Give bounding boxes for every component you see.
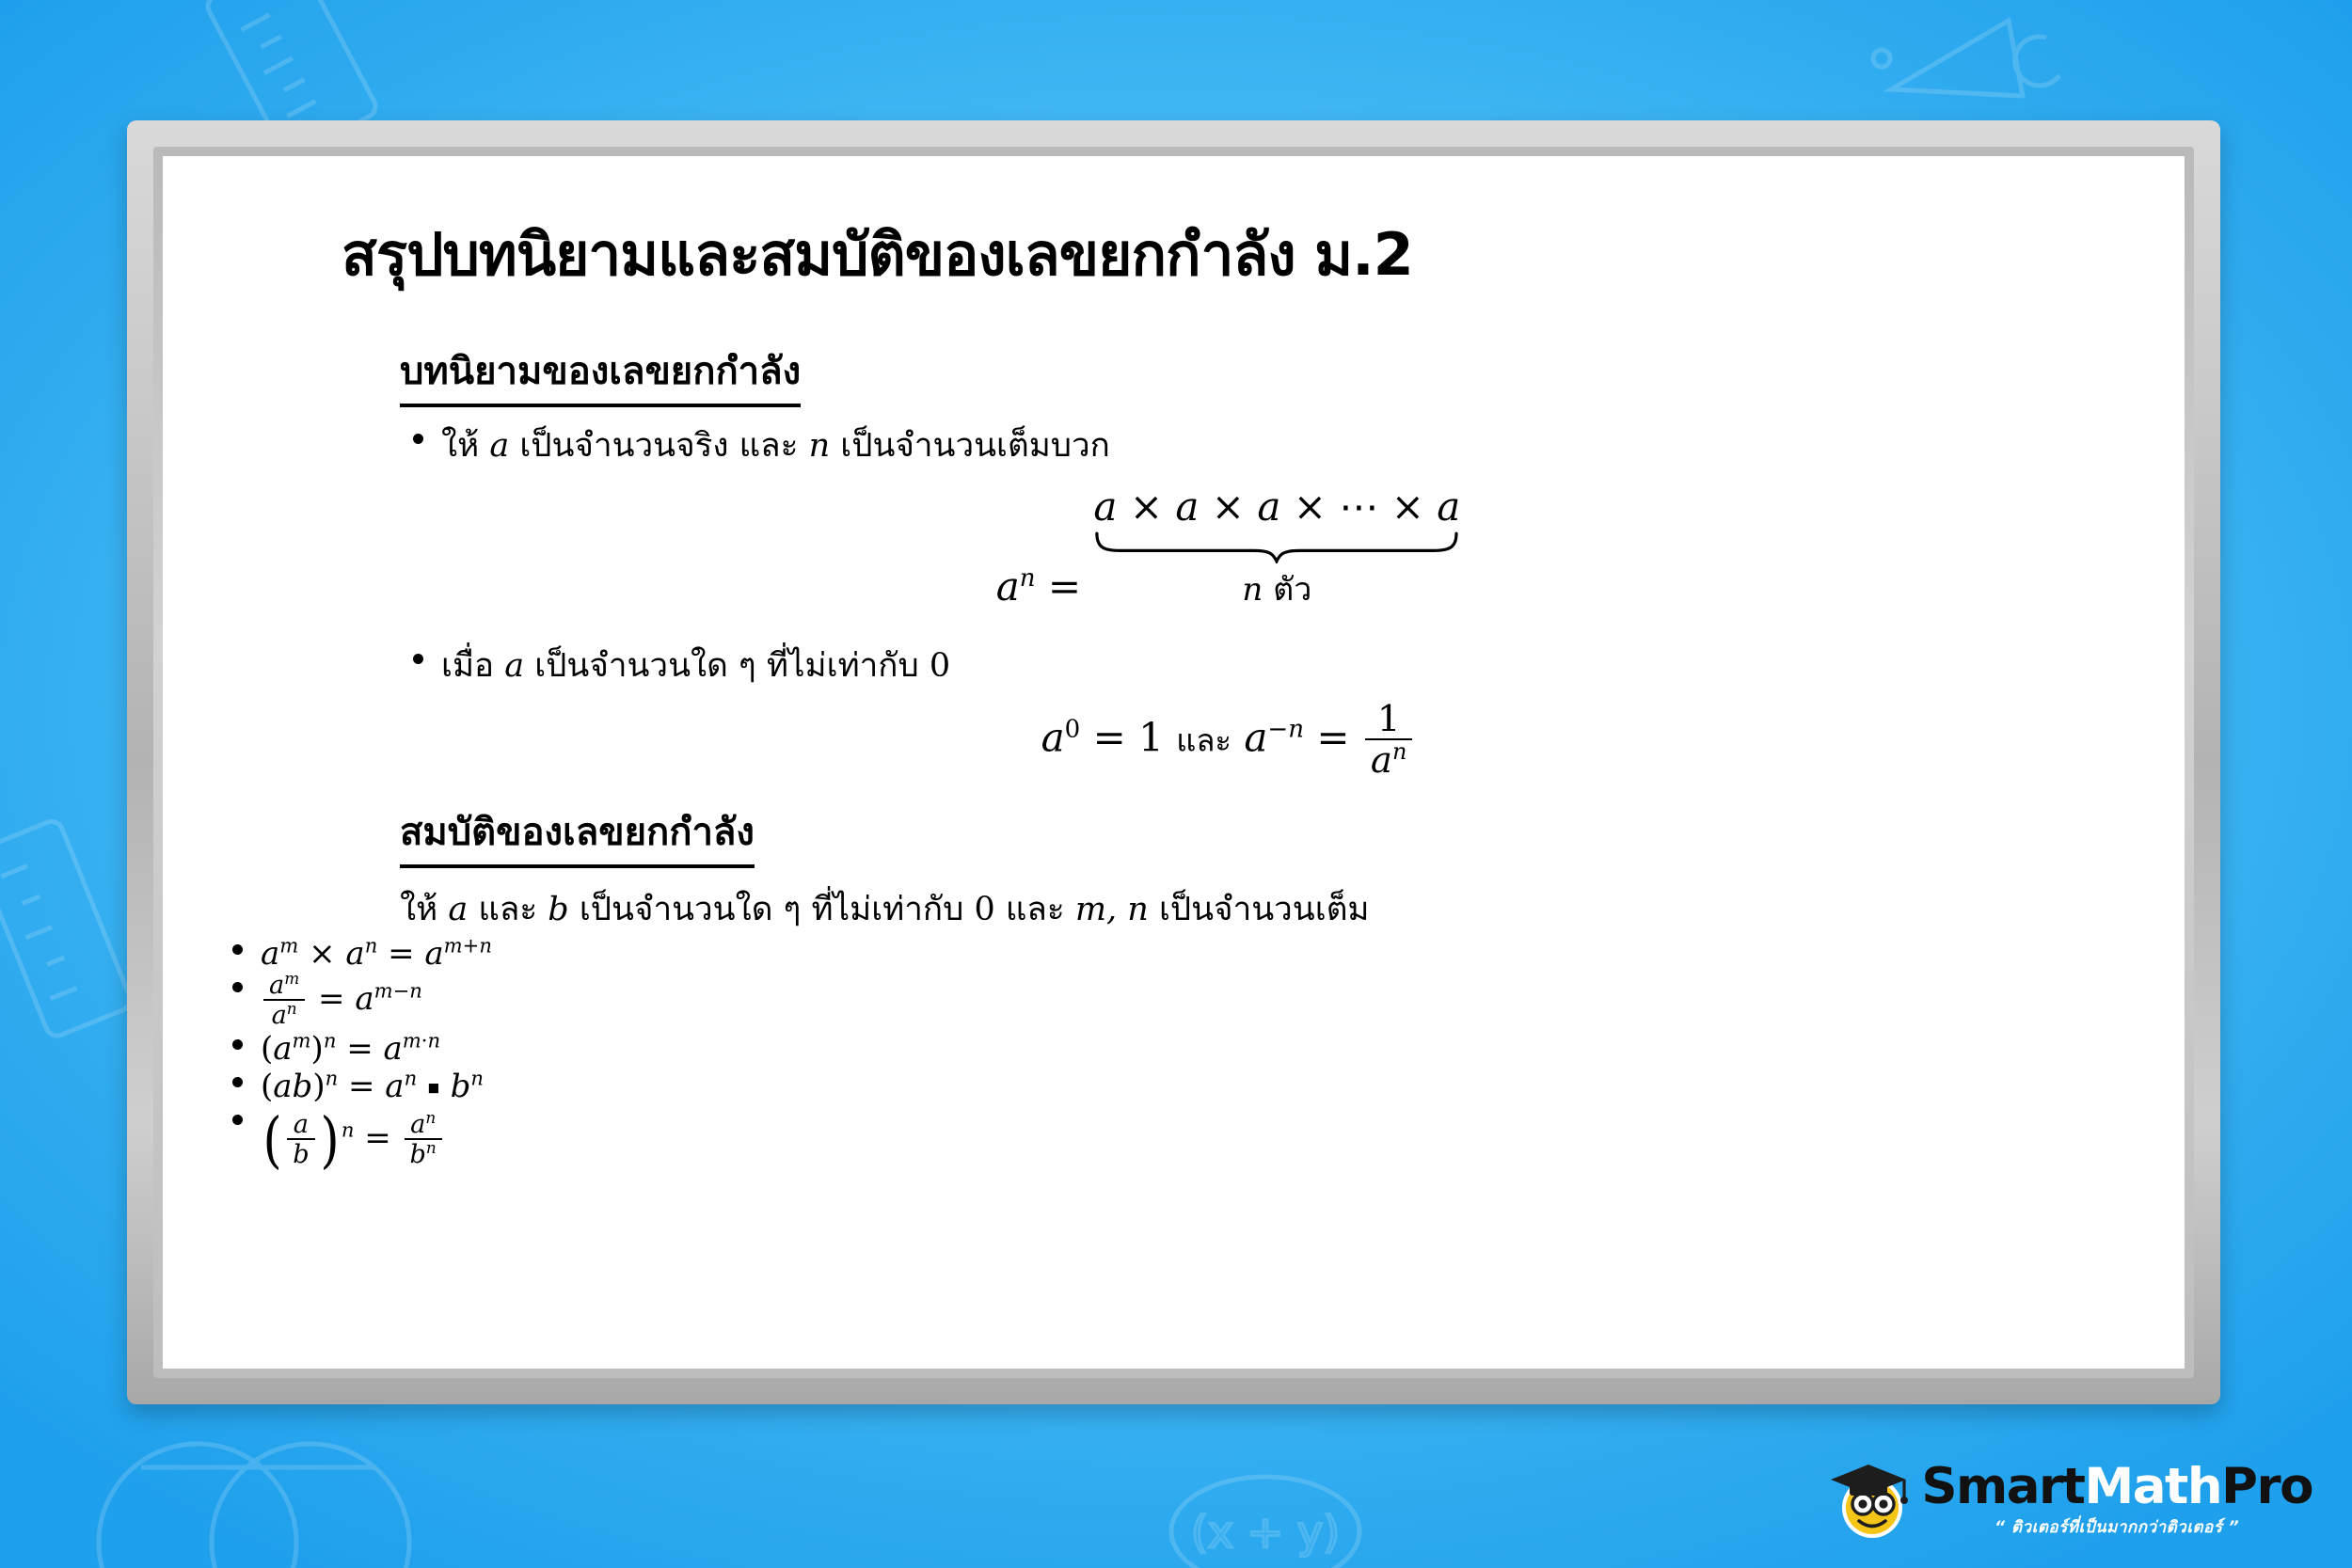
list-item: am an = am−n bbox=[219, 973, 2128, 1030]
math-var: a bbox=[385, 1068, 404, 1105]
equals-sign: = bbox=[1316, 714, 1349, 760]
logo-text-block: SmartMathPro “ ติวเตอร์ที่เป็นมากกว่าติว… bbox=[1921, 1462, 2312, 1540]
math-var: a bbox=[345, 935, 364, 973]
equals-sign: = bbox=[318, 980, 345, 1018]
list-item: am × an = am+n bbox=[219, 935, 2128, 973]
math-var: a bbox=[384, 1030, 403, 1068]
math-var: a bbox=[424, 935, 443, 973]
math-exponent: n bbox=[405, 1066, 418, 1089]
slide-content: สรุปบทนิยามและสมบัติของเลขยกกำลัง ม.2 บท… bbox=[163, 156, 2185, 1369]
whiteboard-frame: สรุปบทนิยามและสมบัติของเลขยกกำลัง ม.2 บท… bbox=[127, 120, 2220, 1404]
equals-sign: = bbox=[1048, 563, 1081, 610]
math-exponent: n bbox=[342, 1118, 355, 1142]
fraction-denominator: an bbox=[1365, 738, 1412, 781]
text-fragment: เป็นจำนวนเต็ม bbox=[1159, 891, 1370, 928]
fraction: an bn bbox=[405, 1112, 442, 1169]
fraction: 1 an bbox=[1365, 701, 1412, 781]
fraction-denominator: an bbox=[263, 999, 305, 1030]
math-var: a bbox=[996, 563, 1020, 610]
left-paren: ( bbox=[261, 1030, 273, 1068]
definition-bullet-1-text: ให้ a เป็นจำนวนจริง และ n เป็นจำนวนเต็มบ… bbox=[441, 424, 2128, 468]
math-var: b bbox=[548, 891, 568, 928]
text-fragment: เป็นจำนวนเต็มบวก bbox=[840, 427, 1110, 465]
list-item: ให้ a เป็นจำนวนจริง และ n เป็นจำนวนเต็มบ… bbox=[400, 424, 2128, 620]
math-var: a bbox=[1041, 714, 1065, 760]
equals-sign: = bbox=[1093, 714, 1126, 760]
math-var: b bbox=[451, 1068, 471, 1105]
math-var: ab bbox=[273, 1068, 312, 1105]
math-var: a bbox=[504, 647, 524, 685]
logo-word-math: Math bbox=[2085, 1458, 2222, 1515]
math-exponent: m+n bbox=[444, 933, 492, 957]
math-var: m, n bbox=[1075, 891, 1149, 928]
logo-tagline: “ ติวเตอร์ที่เป็นมากกว่าติวเตอร์ ” bbox=[1994, 1514, 2239, 1540]
list-item: ( a b )n = an bn bbox=[219, 1105, 2128, 1176]
whiteboard-frame-inner: สรุปบทนิยามและสมบัติของเลขยกกำลัง ม.2 บท… bbox=[153, 147, 2194, 1378]
fraction-numerator: an bbox=[405, 1112, 442, 1139]
math-exponent: n bbox=[326, 1066, 339, 1089]
underbrace-icon bbox=[1093, 531, 1460, 563]
fraction-denominator: b bbox=[287, 1138, 314, 1169]
list-item: (ab)n = an ▪ bn bbox=[219, 1068, 2128, 1105]
equals-sign: = bbox=[364, 1119, 391, 1157]
math-exponent: −n bbox=[1267, 715, 1304, 743]
text-fragment: และ bbox=[1006, 891, 1065, 928]
math-exponent: n bbox=[426, 1138, 437, 1157]
smartmathpro-logo: SmartMathPro “ ติวเตอร์ที่เป็นมากกว่าติว… bbox=[1825, 1457, 2312, 1544]
equals-sign: = bbox=[388, 935, 415, 973]
times-sign: × bbox=[1212, 483, 1245, 530]
left-paren: ( bbox=[261, 1068, 273, 1105]
graduate-smiley-icon bbox=[1825, 1457, 1915, 1544]
fraction: am an bbox=[263, 973, 305, 1030]
definition-equation-1: an = a × a × a × ⋯ bbox=[441, 483, 2128, 620]
property-power-rule: (am)n = am·n bbox=[261, 1030, 440, 1068]
right-paren: ) bbox=[320, 1105, 339, 1176]
logo-word-smart: Smart bbox=[1921, 1458, 2084, 1515]
math-var: a bbox=[1437, 483, 1460, 530]
text-fragment: และ bbox=[478, 891, 537, 928]
list-item: เมื่อ a เป็นจำนวนใด ๆ ที่ไม่เท่ากับ 0 a0… bbox=[400, 644, 2128, 780]
right-paren: ) bbox=[311, 1030, 324, 1068]
text-fragment: ตัว bbox=[1273, 571, 1311, 609]
section-heading-definition: บทนิยามของเลขยกกำลัง bbox=[400, 341, 801, 407]
math-var: a bbox=[273, 1030, 292, 1068]
math-exponent: n bbox=[1020, 564, 1036, 593]
definition-bullet-list: ให้ a เป็นจำนวนจริง และ n เป็นจำนวนเต็มบ… bbox=[400, 424, 2128, 781]
text-fragment: ให้ bbox=[400, 891, 437, 928]
text-fragment: เป็นจำนวนใด ๆ ที่ไม่เท่ากับ bbox=[580, 891, 963, 928]
math-exponent: m bbox=[279, 933, 298, 957]
left-paren: ( bbox=[263, 1105, 282, 1176]
text-fragment: เป็นจำนวนใด ๆ ที่ไม่เท่ากับ bbox=[534, 647, 918, 685]
property-product-rule: am × an = am+n bbox=[261, 935, 492, 973]
logo-word-pro: Pro bbox=[2221, 1458, 2312, 1515]
math-var: a bbox=[355, 980, 373, 1018]
math-number: 0 bbox=[974, 891, 994, 928]
math-var: a bbox=[1175, 483, 1199, 530]
property-product-power: (ab)n = an ▪ bn bbox=[261, 1068, 484, 1105]
fraction-numerator: 1 bbox=[1365, 701, 1412, 739]
math-var: a bbox=[1257, 483, 1280, 530]
text-fragment: เป็นจำนวนจริง และ bbox=[519, 427, 798, 465]
underbrace-group: a × a × a × ⋯ × a bbox=[1093, 483, 1460, 620]
times-sign: × bbox=[309, 935, 336, 973]
math-exponent: n bbox=[365, 933, 378, 957]
ellipsis: ⋯ bbox=[1339, 483, 1378, 530]
conjunction-and: และ bbox=[1176, 722, 1232, 758]
fraction-denominator: bn bbox=[405, 1138, 442, 1169]
math-exponent: n bbox=[470, 1066, 484, 1089]
logo-wordmark: SmartMathPro bbox=[1921, 1462, 2312, 1512]
fraction-numerator: am bbox=[263, 973, 305, 1000]
math-var: a bbox=[1093, 483, 1117, 530]
math-var: a bbox=[269, 971, 284, 1000]
page-title: สรุปบทนิยามและสมบัติของเลขยกกำลัง ม.2 bbox=[342, 209, 2128, 301]
math-number: 0 bbox=[930, 647, 950, 685]
property-quotient-rule: am an = am−n bbox=[261, 980, 422, 1018]
math-var: a bbox=[1371, 739, 1392, 782]
section-heading-properties: สมบัติของเลขยกกำลัง bbox=[400, 801, 755, 868]
math-var: n bbox=[1242, 571, 1263, 609]
equals-sign: = bbox=[346, 1030, 373, 1068]
math-var: a bbox=[261, 935, 279, 973]
list-item: (am)n = am·n bbox=[219, 1030, 2128, 1068]
fraction: a b bbox=[287, 1112, 314, 1169]
math-exponent: n bbox=[425, 1108, 436, 1127]
right-paren: ) bbox=[312, 1068, 325, 1105]
math-var: n bbox=[809, 427, 831, 465]
definition-bullet-2-text: เมื่อ a เป็นจำนวนใด ๆ ที่ไม่เท่ากับ 0 bbox=[441, 644, 2128, 689]
times-sign: × bbox=[1130, 483, 1163, 530]
math-exponent: m·n bbox=[403, 1028, 440, 1052]
math-var: a bbox=[1244, 714, 1267, 760]
math-exponent: n bbox=[287, 999, 297, 1018]
math-var: a bbox=[410, 1110, 425, 1139]
text-fragment: เมื่อ bbox=[441, 647, 494, 685]
multiplication-dot: ▪ bbox=[427, 1075, 440, 1098]
underbrace-label: n ตัว bbox=[1242, 571, 1311, 609]
times-sign: × bbox=[1294, 483, 1327, 530]
math-var: b bbox=[410, 1140, 426, 1169]
math-exponent: n bbox=[324, 1028, 337, 1052]
whiteboard-surface: สรุปบทนิยามและสมบัติของเลขยกกำลัง ม.2 บท… bbox=[163, 156, 2185, 1369]
math-exponent: m bbox=[284, 969, 299, 988]
text-fragment: ให้ bbox=[441, 427, 479, 465]
math-var: a bbox=[489, 427, 509, 465]
math-exponent: m bbox=[293, 1028, 311, 1052]
definition-equation-2: a0 = 1 และ a−n = 1 an bbox=[441, 701, 2128, 781]
math-exponent: m−n bbox=[374, 979, 422, 1003]
times-sign: × bbox=[1391, 483, 1424, 530]
properties-intro-line: ให้ a และ b เป็นจำนวนใด ๆ ที่ไม่เท่ากับ … bbox=[400, 883, 2128, 935]
properties-bullet-list: am × an = am+n am an bbox=[219, 935, 2128, 1176]
fraction-numerator: a bbox=[287, 1112, 314, 1139]
math-number: 1 bbox=[1138, 714, 1164, 760]
math-var: a bbox=[448, 891, 468, 928]
svg-text:(x + y): (x + y) bbox=[1191, 1507, 1340, 1558]
math-exponent: 0 bbox=[1065, 715, 1081, 743]
property-quotient-power: ( a b )n = an bn bbox=[261, 1119, 445, 1157]
equals-sign: = bbox=[348, 1068, 375, 1105]
math-exponent: n bbox=[1392, 738, 1406, 765]
math-var: a bbox=[272, 1001, 287, 1030]
